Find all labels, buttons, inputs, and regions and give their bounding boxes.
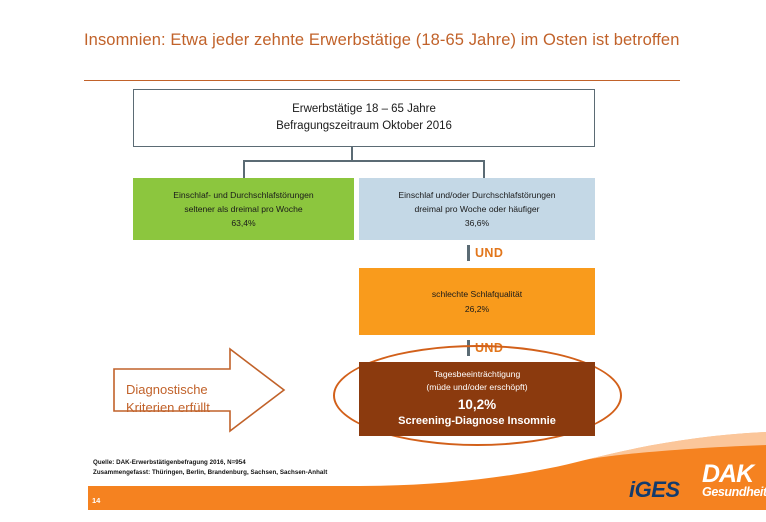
iges-logo: iGES — [629, 479, 680, 501]
arrow-caption-line-2: Kriterien erfüllt — [126, 399, 261, 417]
dak-logo: DAK Gesundheit — [702, 462, 764, 499]
page-number: 14 — [92, 496, 100, 505]
connector-horizontal — [243, 160, 485, 162]
arrow-caption-line-1: Diagnostische — [126, 381, 261, 399]
and-connector-1: UND — [467, 245, 503, 261]
connector-vertical-top — [351, 147, 353, 161]
orange-line-1: schlechte Schlafqualität — [359, 287, 595, 302]
green-value: 63,4% — [133, 216, 354, 230]
dak-logo-main: DAK — [702, 462, 764, 487]
green-box-mild-sleep-disorder: Einschlaf- und Durchschlafstörungen selt… — [133, 178, 354, 240]
and-tick-icon-1 — [467, 245, 470, 261]
connector-vertical-left — [243, 160, 245, 178]
and-label-1: UND — [475, 246, 503, 260]
brown-conclusion: Screening-Diagnose Insomnie — [359, 414, 595, 430]
page-title: Insomnien: Etwa jeder zehnte Erwerbstäti… — [84, 30, 684, 52]
arrow-caption: Diagnostische Kriterien erfüllt — [126, 381, 261, 418]
survey-line-2: Befragungszeitraum Oktober 2016 — [134, 118, 594, 135]
blue-line-2: dreimal pro Woche oder häufiger — [359, 202, 595, 216]
orange-box-sleep-quality: schlechte Schlafqualität 26,2% — [359, 268, 595, 335]
dak-logo-sub: Gesundheit — [702, 486, 764, 499]
brown-line-2: (müde und/oder erschöpft) — [359, 381, 595, 394]
blue-value: 36,6% — [359, 216, 595, 230]
blue-line-1: Einschlaf und/oder Durchschlafstörungen — [359, 188, 595, 202]
survey-line-1: Erwerbstätige 18 – 65 Jahre — [134, 101, 594, 118]
orange-value: 26,2% — [359, 302, 595, 317]
brown-value: 10,2% — [359, 395, 595, 415]
green-line-1: Einschlaf- und Durchschlafstörungen — [133, 188, 354, 202]
slide-canvas: Insomnien: Etwa jeder zehnte Erwerbstäti… — [0, 0, 766, 522]
title-divider — [84, 80, 680, 81]
blue-box-frequent-sleep-disorder: Einschlaf und/oder Durchschlafstörungen … — [359, 178, 595, 240]
survey-box: Erwerbstätige 18 – 65 Jahre Befragungsze… — [133, 89, 595, 147]
green-line-2: seltener als dreimal pro Woche — [133, 202, 354, 216]
brown-box-insomnia-diagnosis: Tagesbeeinträchtigung (müde und/oder ers… — [359, 362, 595, 436]
brown-line-1: Tagesbeeinträchtigung — [359, 368, 595, 381]
connector-vertical-right — [483, 160, 485, 178]
